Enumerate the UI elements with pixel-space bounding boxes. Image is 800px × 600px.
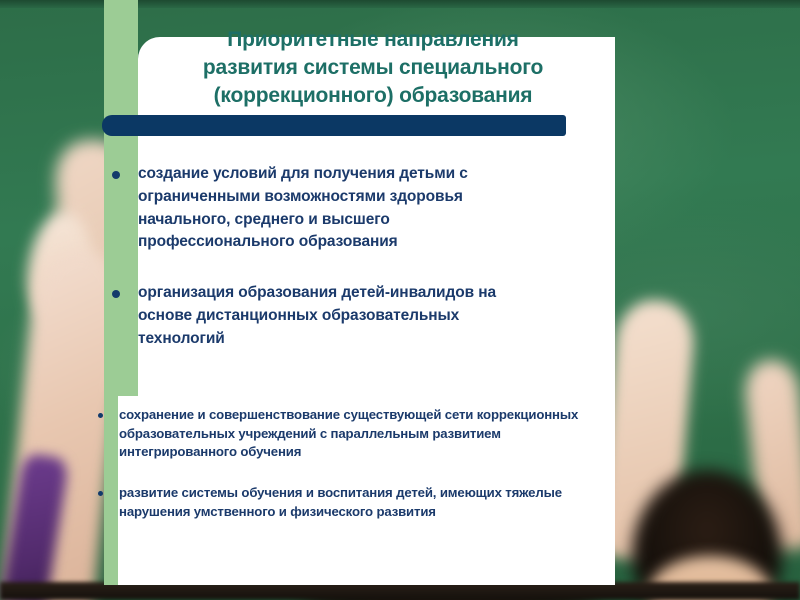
list-item: сохранение и совершенствование существую… [98,406,618,462]
slide-title-line-1: Приоритетные направления [138,26,608,54]
bullet-dot-icon [98,491,103,496]
slide-title-line-2: развития системы специального [138,54,608,82]
bullet-text: сохранение и совершенствование существую… [119,406,613,462]
slide-title: Приоритетные направления развития систем… [138,26,608,110]
title-divider-bar [102,115,566,136]
list-item: создание условий для получения детьми с … [112,163,612,254]
bullet-list-upper: создание условий для получения детьми с … [112,163,612,378]
bullet-text: организация образования детей-инвалидов … [138,282,534,350]
bullet-text: создание условий для получения детьми с … [138,163,534,254]
list-item: развитие системы обучения и воспитания д… [98,484,618,521]
bullet-dot-icon [98,413,103,418]
bullet-text: развитие системы обучения и воспитания д… [119,484,613,521]
slide-title-line-3: (коррекционного) образования [138,82,608,110]
bullet-list-lower: сохранение и совершенствование существую… [98,406,618,544]
bullet-dot-icon [112,290,120,298]
presentation-slide: Приоритетные направления развития систем… [0,0,800,600]
bullet-dot-icon [112,171,120,179]
list-item: организация образования детей-инвалидов … [112,282,612,350]
